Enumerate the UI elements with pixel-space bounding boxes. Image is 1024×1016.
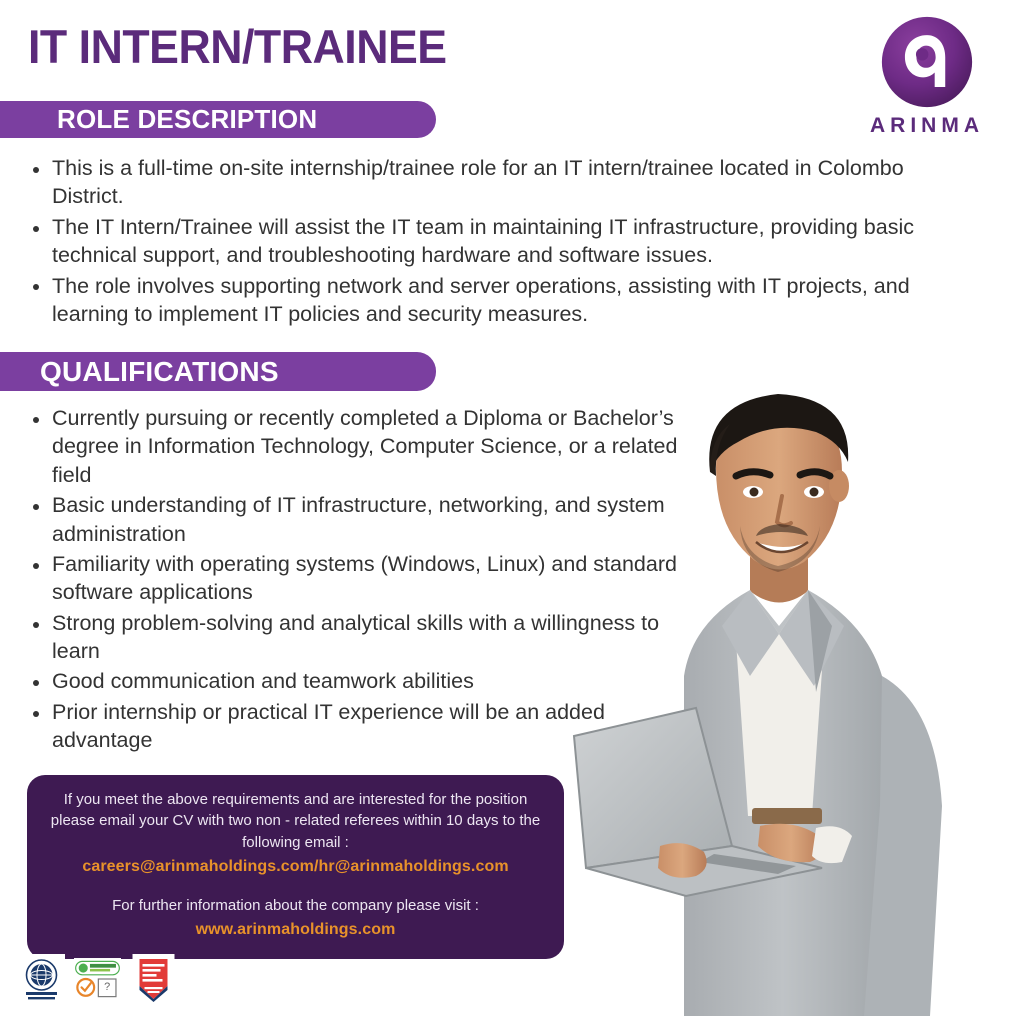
section-banner-label: ROLE DESCRIPTION bbox=[0, 104, 317, 135]
brand-wordmark: ARINMA bbox=[852, 114, 1002, 138]
carbon-neutral-badge-icon: ? bbox=[74, 954, 121, 1004]
list-item: The role involves supporting network and… bbox=[22, 272, 962, 329]
contact-box: If you meet the above requirements and a… bbox=[27, 775, 564, 959]
job-poster: IT INTERN/TRAINEE ARINMA ROLE DESCRIPTIO… bbox=[0, 0, 1024, 1016]
iso-globe-certification-badge-icon bbox=[18, 954, 65, 1004]
applicant-photo bbox=[564, 376, 1024, 1016]
contact-intro-line-2: please email your CV with two non - rela… bbox=[45, 810, 546, 831]
contact-website-link[interactable]: www.arinmaholdings.com bbox=[45, 921, 546, 939]
brand-logo: ARINMA bbox=[852, 14, 1002, 138]
contact-intro-line-3: following email : bbox=[45, 832, 546, 853]
contact-intro-line-1: If you meet the above requirements and a… bbox=[45, 789, 546, 810]
contact-email-link[interactable]: careers@arinmaholdings.com/hr@arinmahold… bbox=[45, 858, 546, 876]
list-item: The IT Intern/Trainee will assist the IT… bbox=[22, 213, 962, 270]
spacer bbox=[45, 876, 546, 895]
section-banner-label: QUALIFICATIONS bbox=[0, 356, 279, 388]
page-title: IT INTERN/TRAINEE bbox=[28, 22, 447, 71]
svg-text:?: ? bbox=[104, 981, 110, 993]
section-banner-qualifications: QUALIFICATIONS bbox=[0, 352, 436, 391]
section-banner-role-description: ROLE DESCRIPTION bbox=[0, 101, 436, 138]
contact-visit-line: For further information about the compan… bbox=[45, 895, 546, 916]
arinma-circle-a-logo-icon bbox=[879, 14, 975, 110]
great-place-to-work-badge-icon bbox=[130, 954, 177, 1004]
certification-badges: ? bbox=[18, 954, 177, 1004]
list-item: This is a full-time on-site internship/t… bbox=[22, 154, 962, 211]
role-description-list: This is a full-time on-site internship/t… bbox=[22, 154, 962, 330]
